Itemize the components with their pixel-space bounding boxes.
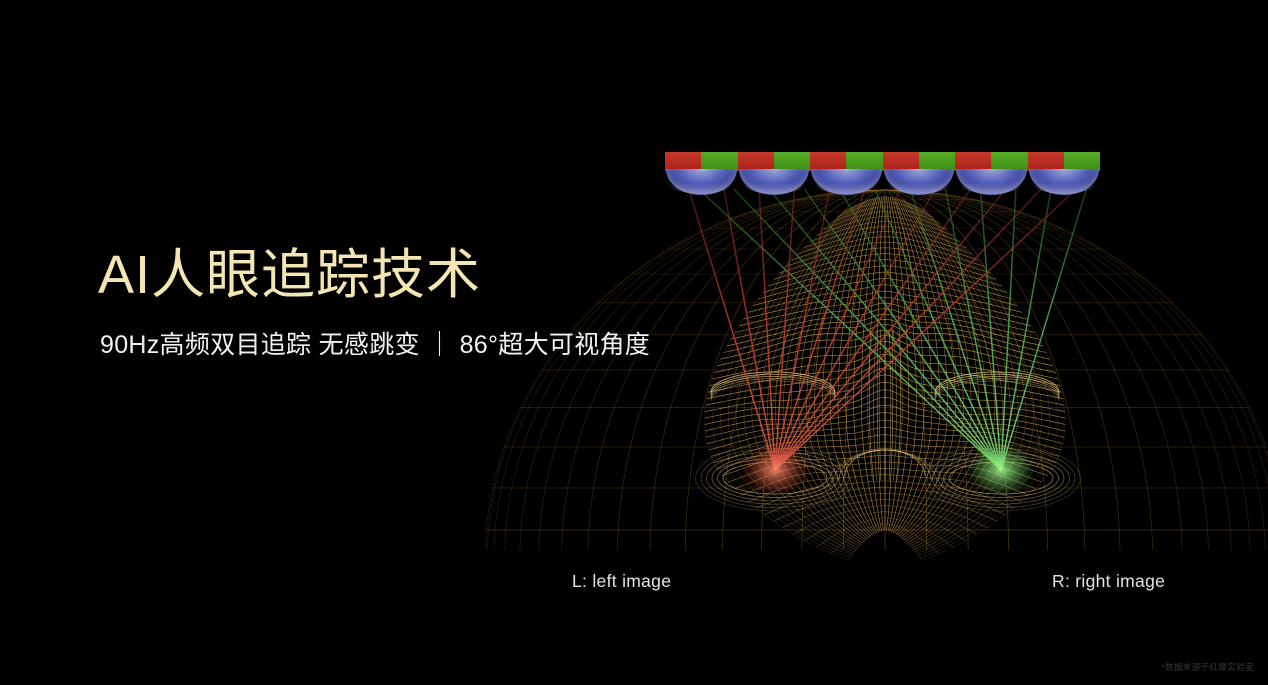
ray-left-red [775, 189, 865, 470]
lens-unit [738, 152, 811, 195]
caption-left-image: L: left image [572, 571, 671, 592]
ray-left-red [775, 189, 794, 470]
right-eye-convergence-glow [967, 444, 1035, 496]
ray-right-green [1001, 189, 1016, 470]
eye-tracking-rays [689, 189, 1087, 496]
lens-dome-blue [666, 169, 737, 195]
face-wireframe [696, 197, 1081, 560]
ray-right-green [699, 189, 1001, 470]
ray-right-green [804, 189, 1001, 470]
ray-left-red [775, 189, 1041, 470]
page-title: AI人眼追踪技术 [98, 244, 650, 308]
ray-right-green [769, 189, 1001, 470]
ray-right-green [840, 189, 1001, 470]
lens-unit [883, 152, 956, 195]
ray-left-red [724, 189, 775, 470]
lens-dome-blue [956, 169, 1027, 195]
footnote-disclaimer: *数据来源于红魔实验室 [1161, 661, 1254, 673]
ray-left-red [775, 189, 900, 470]
ray-left-red [775, 189, 935, 470]
ray-left-red [775, 189, 971, 470]
headline-block: AI人眼追踪技术 90Hz高频双目追踪 无感跳变 ｜ 86°超大可视角度 [98, 244, 650, 360]
lens-dome-blue [1029, 169, 1100, 195]
ray-left-red [689, 189, 775, 470]
ray-right-green [734, 189, 1001, 470]
lens-unit [665, 152, 738, 195]
caption-right-image: R: right image [1052, 571, 1165, 592]
ray-left-red [775, 189, 830, 470]
lens-unit [1028, 152, 1101, 195]
ray-right-green [945, 189, 1001, 470]
ray-right-green [910, 189, 1001, 470]
ray-left-red [775, 189, 1076, 470]
ray-right-green [1001, 189, 1086, 470]
lens-unit [955, 152, 1028, 195]
slide-root: AI人眼追踪技术 90Hz高频双目追踪 无感跳变 ｜ 86°超大可视角度 L: … [0, 0, 1268, 685]
left-eye-convergence-glow [741, 444, 809, 496]
ray-right-green [981, 189, 1001, 470]
lenticular-lens-bar [665, 152, 1100, 195]
ray-right-green [875, 189, 1001, 470]
lens-dome-blue [739, 169, 810, 195]
ray-left-red [775, 189, 1006, 470]
lens-dome-blue [811, 169, 882, 195]
lens-unit [810, 152, 883, 195]
ray-right-green [1001, 189, 1051, 470]
ray-left-red [759, 189, 775, 470]
lens-dome-blue [884, 169, 955, 195]
page-subtitle: 90Hz高频双目追踪 无感跳变 ｜ 86°超大可视角度 [100, 330, 650, 360]
